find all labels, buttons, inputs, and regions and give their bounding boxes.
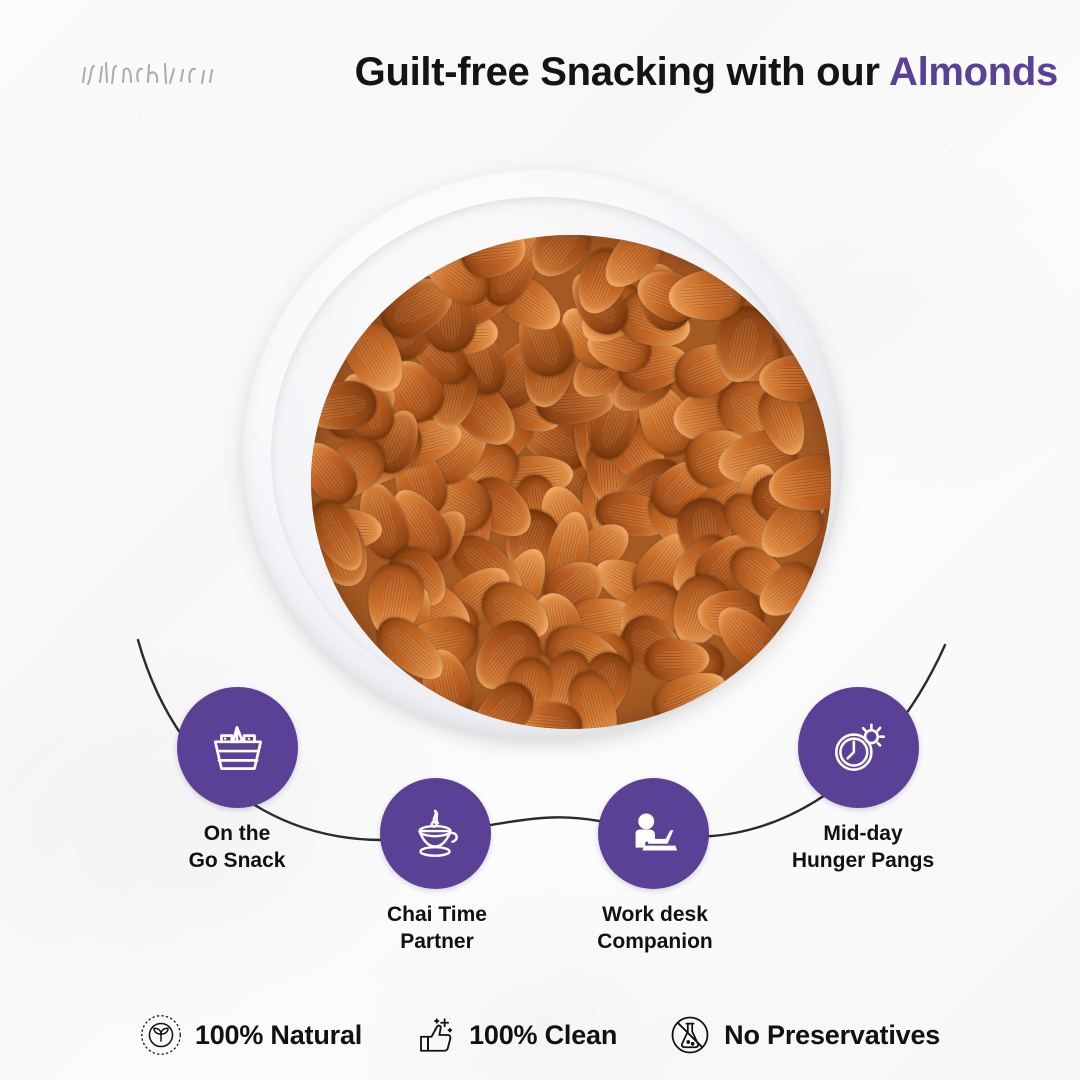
bowl — [243, 170, 843, 740]
tea-cup-icon — [405, 803, 467, 865]
page-title: Guilt-free Snacking with our Almonds — [250, 50, 1058, 94]
snack-box-circle[interactable] — [177, 687, 298, 808]
clock-sun-icon — [826, 715, 892, 781]
person-laptop-icon — [623, 803, 685, 865]
feature-label-work-desk-companion: Work desk Companion — [540, 902, 770, 956]
badge-label-natural: 100% Natural — [195, 1020, 362, 1051]
badge-label-no-preservatives: No Preservatives — [724, 1020, 940, 1051]
person-laptop-circle[interactable] — [598, 778, 709, 889]
title-accent-text: Almonds — [889, 50, 1058, 94]
feature-label-chai-time-partner: Chai Time Partner — [322, 902, 552, 956]
leaf-seal-icon — [140, 1014, 182, 1056]
thumbs-up-sparkle-icon — [414, 1014, 456, 1056]
badge-natural: 100% Natural — [140, 1014, 362, 1056]
clock-sun-circle[interactable] — [798, 687, 919, 808]
snack-box-icon — [205, 715, 271, 781]
trust-badges: 100% Natural 100% Clean — [0, 1014, 1080, 1056]
feature-label-mid-day-hunger-pangs: Mid-day Hunger Pangs — [748, 821, 978, 875]
product-poster: Guilt-free Snacking with our Almonds — [0, 0, 1080, 1080]
tea-cup-circle[interactable] — [380, 778, 491, 889]
bowl-rim — [271, 197, 815, 713]
badge-no-preservatives: No Preservatives — [669, 1014, 940, 1056]
badge-clean: 100% Clean — [414, 1014, 617, 1056]
almonds-pile — [311, 235, 831, 729]
product-image — [243, 170, 843, 740]
title-main-text: Guilt-free Snacking with our — [355, 50, 889, 94]
feature-label-on-the-go-snack: On the Go Snack — [122, 821, 352, 875]
badge-label-clean: 100% Clean — [469, 1020, 617, 1051]
no-flask-icon — [669, 1014, 711, 1056]
brand-logo-icon — [78, 52, 238, 96]
